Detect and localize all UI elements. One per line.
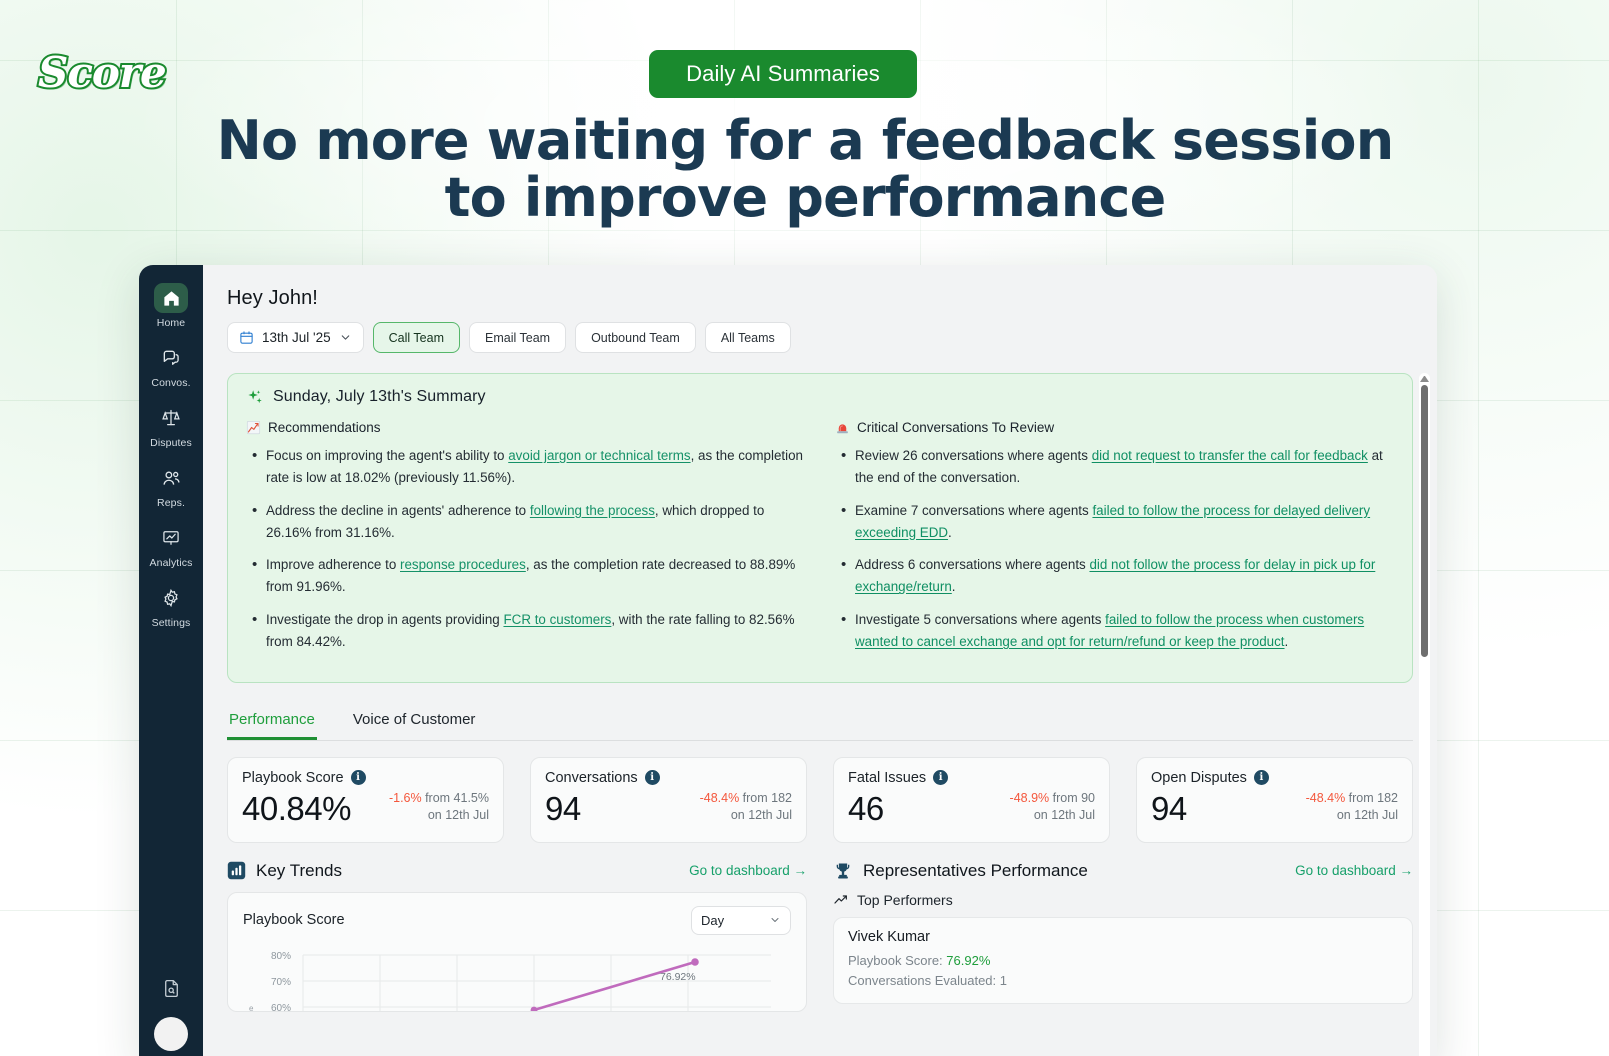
team-filter-email-team[interactable]: Email Team: [469, 322, 566, 353]
list-item: Improve adherence to response procedures…: [246, 554, 805, 598]
info-icon[interactable]: i: [351, 770, 366, 785]
top-performers-label: Top Performers: [857, 892, 953, 908]
sidebar-item-convos[interactable]: Convos.: [141, 343, 201, 389]
kpi-value: 40.84%: [242, 790, 351, 828]
kpi-body: 94 -48.4% from 182 on 12th Jul: [1151, 790, 1398, 828]
svg-text:70%: 70%: [271, 977, 291, 988]
sidebar-item-label: Disputes: [150, 437, 192, 449]
reps-title: Representatives Performance: [833, 861, 1088, 881]
kpi-card-fatal-issues: Fatal Issues i 46 -48.9% from 90 on 12th…: [833, 757, 1110, 843]
chart-header: Playbook Score Day: [243, 906, 791, 935]
sidebar-item-label: Analytics: [150, 557, 193, 569]
sidebar: Home Convos. Disputes Reps. Analytics: [139, 265, 203, 1056]
sidebar-item-home[interactable]: Home: [141, 283, 201, 329]
kpi-delta-on: on 12th Jul: [731, 808, 792, 822]
kpi-delta: -48.4% from 182 on 12th Jul: [1306, 790, 1398, 828]
bar-chart-icon: [227, 861, 246, 880]
list-item: Address the decline in agents' adherence…: [246, 500, 805, 544]
representatives-performance-section: Representatives Performance Go to dashbo…: [833, 861, 1413, 1012]
chat-icon: [154, 343, 188, 373]
kpi-body: 46 -48.9% from 90 on 12th Jul: [848, 790, 1095, 828]
kpi-delta-on: on 12th Jul: [1034, 808, 1095, 822]
kpi-delta-value: -48.4%: [700, 791, 740, 805]
trophy-icon: [833, 861, 853, 881]
date-value: 13th Jul '25: [262, 330, 331, 345]
recommendations-heading: Recommendations: [246, 420, 805, 435]
item-post: .: [1285, 634, 1289, 649]
info-icon[interactable]: i: [1254, 770, 1269, 785]
critical-list: Review 26 conversations where agents did…: [835, 445, 1394, 653]
sidebar-item-label: Home: [157, 317, 185, 329]
lower-sections: Key Trends Go to dashboard → Playbook Sc…: [227, 861, 1413, 1012]
kpi-card-conversations: Conversations i 94 -48.4% from 182 on 12…: [530, 757, 807, 843]
topbar: Hey John! 13th Jul '25 Call Team Email T…: [203, 265, 1437, 365]
line-chart-plot: 80% 70% 60% e 76.92%: [243, 947, 791, 1012]
chart-title: Playbook Score: [243, 912, 345, 928]
list-item: Address 6 conversations where agents did…: [835, 554, 1394, 598]
recommendations-column: Recommendations Focus on improving the a…: [246, 420, 805, 664]
performer-score-row: Playbook Score: 76.92%: [848, 951, 1398, 971]
performer-score-label: Playbook Score:: [848, 953, 946, 968]
list-item: Investigate the drop in agents providing…: [246, 609, 805, 653]
list-item: Focus on improving the agent's ability t…: [246, 445, 805, 489]
kpi-delta-value: -1.6%: [389, 791, 422, 805]
scales-icon: [154, 403, 188, 433]
item-link[interactable]: avoid jargon or technical terms: [508, 448, 690, 463]
kpi-body: 40.84% -1.6% from 41.5% on 12th Jul: [242, 790, 489, 828]
sidebar-item-reps[interactable]: Reps.: [141, 463, 201, 509]
summary-title: Sunday, July 13th's Summary: [273, 388, 486, 406]
scroll-up-arrow-icon[interactable]: [1420, 373, 1429, 382]
avatar[interactable]: [154, 1017, 188, 1051]
scrollbar-thumb[interactable]: [1421, 385, 1428, 657]
item-link[interactable]: FCR to customers: [503, 612, 611, 627]
greeting: Hey John!: [227, 287, 1413, 310]
tab-performance[interactable]: Performance: [227, 701, 317, 740]
kpi-delta-from: from 182: [739, 791, 792, 805]
chart-increasing-icon: [246, 420, 261, 435]
document-search-icon[interactable]: [154, 973, 188, 1003]
granularity-value: Day: [701, 913, 724, 928]
item-pre: Address 6 conversations where agents: [855, 557, 1089, 572]
item-pre: Focus on improving the agent's ability t…: [266, 448, 508, 463]
playbook-score-chart-card: Playbook Score Day: [227, 892, 807, 1012]
score-logo[interactable]: Score: [38, 48, 166, 97]
item-post: .: [952, 579, 956, 594]
sidebar-item-label: Convos.: [151, 377, 190, 389]
chevron-down-icon: [339, 331, 352, 344]
analytics-icon: [154, 523, 188, 553]
kpi-title-label: Conversations: [545, 770, 638, 786]
reps-go-to-dashboard-link[interactable]: Go to dashboard →: [1295, 863, 1413, 878]
item-post: .: [948, 525, 952, 540]
key-trends-header: Key Trends Go to dashboard →: [227, 861, 807, 881]
trending-up-icon: [833, 892, 849, 908]
sidebar-item-settings[interactable]: Settings: [141, 583, 201, 629]
svg-text:e: e: [249, 1004, 254, 1012]
filter-bar: 13th Jul '25 Call Team Email Team Outbou…: [227, 322, 1413, 353]
granularity-select[interactable]: Day: [691, 906, 791, 935]
svg-text:80%: 80%: [271, 951, 291, 962]
kpi-title-label: Open Disputes: [1151, 770, 1247, 786]
list-item: Examine 7 conversations where agents fai…: [835, 500, 1394, 544]
kpi-value: 94: [1151, 790, 1187, 828]
page-title: No more waiting for a feedback session t…: [180, 112, 1430, 226]
list-item: Review 26 conversations where agents did…: [835, 445, 1394, 489]
scroll-area: Sunday, July 13th's Summary Recommendati…: [203, 365, 1437, 1056]
kpi-delta-from: from 182: [1345, 791, 1398, 805]
kpi-title: Fatal Issues i: [848, 770, 1095, 786]
item-pre: Examine 7 conversations where agents: [855, 503, 1092, 518]
recommendations-heading-label: Recommendations: [268, 420, 381, 435]
key-trends-go-to-dashboard-link[interactable]: Go to dashboard →: [689, 863, 807, 878]
info-icon[interactable]: i: [933, 770, 948, 785]
kpi-title-label: Fatal Issues: [848, 770, 926, 786]
kpi-cards: Playbook Score i 40.84% -1.6% from 41.5%…: [227, 757, 1413, 843]
calendar-icon: [239, 330, 254, 345]
kpi-card-playbook-score: Playbook Score i 40.84% -1.6% from 41.5%…: [227, 757, 504, 843]
kpi-delta-on: on 12th Jul: [1337, 808, 1398, 822]
svg-text:60%: 60%: [271, 1003, 291, 1012]
daily-ai-summaries-badge: Daily AI Summaries: [649, 50, 917, 98]
chevron-down-icon: [769, 914, 781, 926]
top-performer-card[interactable]: Vivek Kumar Playbook Score: 76.92% Conve…: [833, 917, 1413, 1004]
item-pre: Investigate the drop in agents providing: [266, 612, 503, 627]
recommendations-list: Focus on improving the agent's ability t…: [246, 445, 805, 653]
critical-heading: Critical Conversations To Review: [835, 420, 1394, 435]
home-icon: [154, 283, 188, 313]
kpi-title: Playbook Score i: [242, 770, 489, 786]
info-icon[interactable]: i: [645, 770, 660, 785]
performer-name: Vivek Kumar: [848, 929, 1398, 945]
kpi-delta-value: -48.4%: [1306, 791, 1346, 805]
team-filter-outbound-team[interactable]: Outbound Team: [575, 322, 696, 353]
summary-columns: Recommendations Focus on improving the a…: [246, 420, 1394, 664]
kpi-title-label: Playbook Score: [242, 770, 344, 786]
kpi-delta-from: from 41.5%: [422, 791, 489, 805]
list-item: Investigate 5 conversations where agents…: [835, 609, 1394, 653]
item-pre: Review 26 conversations where agents: [855, 448, 1092, 463]
kpi-delta: -1.6% from 41.5% on 12th Jul: [389, 790, 489, 828]
sidebar-item-analytics[interactable]: Analytics: [141, 523, 201, 569]
kpi-value: 46: [848, 790, 884, 828]
item-pre: Improve adherence to: [266, 557, 400, 572]
kpi-title: Open Disputes i: [1151, 770, 1398, 786]
item-pre: Address the decline in agents' adherence…: [266, 503, 530, 518]
date-picker[interactable]: 13th Jul '25: [227, 322, 364, 353]
kpi-delta-from: from 90: [1049, 791, 1095, 805]
content-scrollbar[interactable]: [1419, 373, 1430, 1056]
kpi-delta: -48.9% from 90 on 12th Jul: [1010, 790, 1095, 828]
kpi-delta: -48.4% from 182 on 12th Jul: [700, 790, 792, 828]
reps-title-label: Representatives Performance: [863, 861, 1088, 881]
key-trends-section: Key Trends Go to dashboard → Playbook Sc…: [227, 861, 807, 1012]
users-icon: [154, 463, 188, 493]
item-pre: Investigate 5 conversations where agents: [855, 612, 1105, 627]
critical-heading-label: Critical Conversations To Review: [857, 420, 1054, 435]
item-link[interactable]: response procedures: [400, 557, 526, 572]
kpi-value: 94: [545, 790, 581, 828]
svg-text:76.92%: 76.92%: [660, 971, 696, 983]
kpi-card-open-disputes: Open Disputes i 94 -48.4% from 182 on 12…: [1136, 757, 1413, 843]
item-link[interactable]: following the process: [530, 503, 655, 518]
reps-header: Representatives Performance Go to dashbo…: [833, 861, 1413, 881]
siren-icon: [835, 420, 850, 435]
kpi-body: 94 -48.4% from 182 on 12th Jul: [545, 790, 792, 828]
key-trends-title-label: Key Trends: [256, 861, 342, 881]
sidebar-item-label: Reps.: [157, 497, 185, 509]
app-window: Home Convos. Disputes Reps. Analytics: [139, 265, 1437, 1056]
daily-summary-card: Sunday, July 13th's Summary Recommendati…: [227, 373, 1413, 683]
sidebar-bottom: [139, 973, 203, 1051]
item-link[interactable]: did not request to transfer the call for…: [1092, 448, 1368, 463]
gear-icon: [154, 583, 188, 613]
team-filter-call-team[interactable]: Call Team: [373, 322, 460, 353]
chart-svg: 80% 70% 60% e 76.92%: [243, 947, 773, 1012]
sidebar-item-label: Settings: [152, 617, 191, 629]
performer-evaluated-row: Conversations Evaluated: 1: [848, 971, 1398, 991]
performer-score-value: 76.92%: [946, 953, 990, 968]
kpi-delta-value: -48.9%: [1010, 791, 1050, 805]
key-trends-title: Key Trends: [227, 861, 342, 881]
sparkles-icon: [246, 388, 264, 406]
content-tabs: Performance Voice of Customer: [227, 701, 1413, 741]
top-performers-label-row: Top Performers: [833, 892, 1413, 908]
main-content: Hey John! 13th Jul '25 Call Team Email T…: [203, 265, 1437, 1056]
kpi-title: Conversations i: [545, 770, 792, 786]
team-filter-all-teams[interactable]: All Teams: [705, 322, 791, 353]
summary-header: Sunday, July 13th's Summary: [246, 388, 1394, 406]
tab-voice-of-customer[interactable]: Voice of Customer: [351, 701, 478, 740]
critical-conversations-column: Critical Conversations To Review Review …: [835, 420, 1394, 664]
kpi-delta-on: on 12th Jul: [428, 808, 489, 822]
sidebar-item-disputes[interactable]: Disputes: [141, 403, 201, 449]
